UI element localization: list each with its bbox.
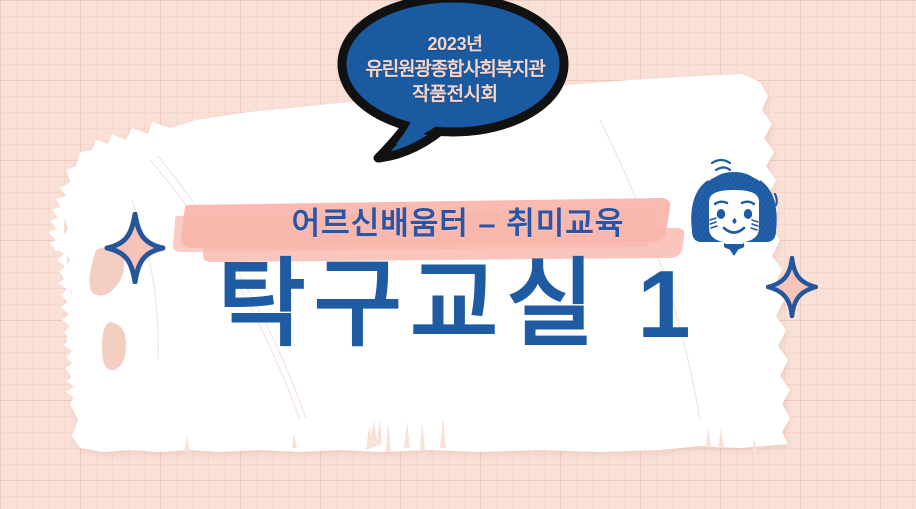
- speech-bubble: 2023년 유린원광종합사회복지관 작품전시회: [318, 0, 588, 192]
- bubble-line-2: 유린원광종합사회복지관: [340, 57, 570, 82]
- sparkle-star-right-icon: [766, 256, 818, 323]
- bubble-line-3: 작품전시회: [340, 82, 570, 107]
- poster-canvas: 어르신배움터 – 취미교육 탁구교실 1: [0, 0, 916, 509]
- bubble-line-1: 2023년: [340, 32, 570, 57]
- sparkle-star-left-icon: [104, 212, 166, 289]
- speech-bubble-text: 2023년 유린원광종합사회복지관 작품전시회: [340, 32, 570, 107]
- girl-character-illustration: [676, 146, 796, 266]
